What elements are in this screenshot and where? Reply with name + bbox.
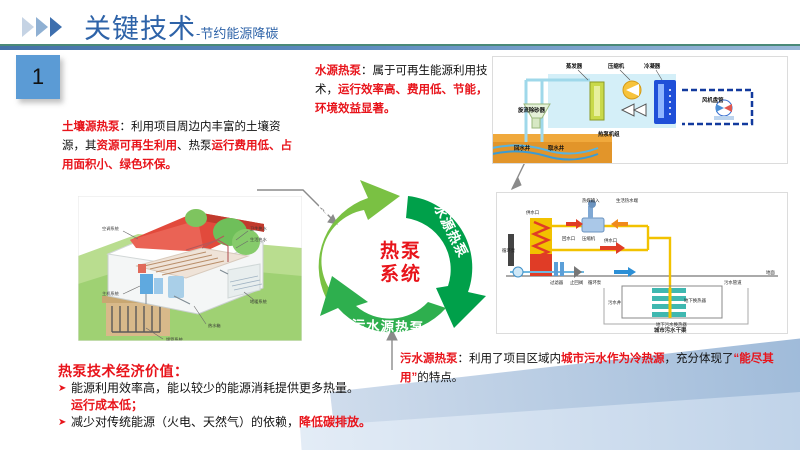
svg-text:供水口: 供水口	[604, 237, 617, 244]
ground-source-heat-pump-house-diagram: 空调系统 主机系统 地暖系统 热水箱 埋管系统 卫生热水 生活热水	[78, 196, 302, 341]
cycle-center-label: 热泵 系统	[351, 228, 451, 298]
svg-text:蒸发器: 蒸发器	[565, 62, 583, 70]
svg-text:生活热水: 生活热水	[250, 236, 268, 243]
svg-text:回水井: 回水井	[514, 144, 531, 152]
callout-sewage-source: 污水源热泵：利用了项目区域内城市污水作为冷热源，充分体现了“能尽其用”的特点。	[400, 350, 790, 388]
svg-text:回水口: 回水口	[562, 235, 575, 242]
svg-text:压缩机: 压缩机	[608, 62, 625, 70]
svg-text:止回阀: 止回阀	[570, 279, 583, 286]
callout-soil-term: 土壤源热泵	[62, 121, 120, 133]
svg-text:供水口: 供水口	[526, 209, 539, 216]
callout-water-term: 水源热泵	[315, 65, 361, 77]
svg-text:地面: 地面	[766, 269, 775, 276]
water-source-heat-pump-well-diagram: 蒸发器 压缩机 冷凝器 旋流除砂器 风机盘管 热泵机组 回水井 取水井	[492, 56, 788, 164]
callout-sewage-body: 利用了项目区域内	[469, 353, 561, 365]
callout-water-colon: ：	[361, 65, 373, 77]
economic-value-bullet-2: 减少对传统能源（火电、天然气）的依赖，降低碳排放。	[58, 414, 408, 431]
callout-soil-hl-a: 资源可再生利用	[97, 140, 178, 152]
heat-pump-cycle-diagram: 热泵 系统 土壤源热泵 水源热泵 污水源热泵	[296, 176, 506, 351]
callout-sewage-tail: 的特点。	[417, 372, 463, 384]
callout-sewage-term: 污水源热泵	[400, 353, 458, 365]
svg-text:地下换热器: 地下换热器	[684, 297, 707, 304]
page-title-main: 关键技术	[84, 14, 196, 44]
svg-text:城市污水干渠: 城市污水干渠	[654, 326, 687, 334]
page-number-badge: 1	[16, 55, 60, 99]
economic-value-bullet-1-text: 能源利用效率高，能以较少的能源消耗提供更多热量。	[71, 381, 359, 395]
svg-text:主机系统: 主机系统	[102, 290, 119, 297]
svg-text:空调系统: 空调系统	[102, 225, 119, 232]
header-rule-blue	[0, 46, 800, 50]
callout-soil-colon: ：	[120, 121, 132, 133]
callout-soil-source: 土壤源热泵：利用项目周边内丰富的土壤资源，其资源可再生利用、热泵运行费用低、占用…	[62, 118, 302, 175]
svg-text:污水井: 污水井	[608, 299, 622, 306]
svg-text:冷凝器: 冷凝器	[644, 62, 661, 70]
svg-text:热水箱: 热水箱	[208, 322, 221, 329]
svg-text:地暖系统: 地暖系统	[250, 298, 267, 305]
cycle-center-line2: 系统	[380, 263, 422, 286]
svg-text:污水管道: 污水管道	[724, 279, 742, 286]
page-title: 关键技术-节约能源降碳	[84, 7, 278, 46]
economic-value-bullet-2-text: 减少对传统能源（火电、天然气）的依赖，	[71, 415, 299, 429]
callout-sewage-hl-a: 城市污水作为冷热源	[561, 353, 665, 365]
slide-canvas: 关键技术-节约能源降碳 1	[0, 0, 800, 450]
svg-text:生活热水端: 生活热水端	[616, 197, 639, 204]
svg-text:风机盘管: 风机盘管	[702, 96, 724, 104]
svg-text:热泵机组: 热泵机组	[598, 130, 620, 138]
cycle-center-line1: 热泵	[380, 240, 422, 263]
economic-value-block: 热泵技术经济价值： 能源利用效率高，能以较少的能源消耗提供更多热量。 运行成本低…	[58, 363, 408, 431]
svg-text:压缩机: 压缩机	[582, 235, 596, 242]
sewage-source-heat-pump-diagram: 热媒输入 生活热水端 压缩机 供水口 循环泵 供水口 回水口 过滤器 止回阀 循…	[496, 192, 788, 334]
svg-text:地下污水换热器: 地下污水换热器	[656, 321, 687, 328]
callout-soil-mid: 、热泵	[177, 140, 212, 152]
double-chevron-right-icon	[22, 16, 78, 38]
svg-text:旋流除砂器: 旋流除砂器	[517, 106, 546, 114]
economic-value-subline: 运行成本低；	[58, 397, 408, 414]
economic-value-title: 热泵技术经济价值：	[58, 363, 408, 380]
callout-sewage-colon: ：	[458, 353, 470, 365]
svg-text:热媒输入: 热媒输入	[582, 197, 600, 204]
svg-text:循环泵: 循环泵	[588, 279, 602, 286]
callout-sewage-mid: ，充分体现了	[665, 353, 734, 365]
svg-text:埋管系统: 埋管系统	[166, 336, 183, 341]
economic-value-bullet-1: 能源利用效率高，能以较少的能源消耗提供更多热量。	[58, 380, 408, 397]
economic-value-bullet-2-hl: 降低碳排放。	[299, 415, 371, 429]
svg-text:过滤器: 过滤器	[550, 279, 564, 286]
svg-text:卫生热水: 卫生热水	[250, 225, 268, 232]
page-subtitle: -节约能源降碳	[196, 26, 278, 41]
callout-water-hl: 运行效率高、费用低、节能，环境效益显著。	[315, 84, 488, 115]
cycle-label-sewage: 污水源热泵	[351, 314, 424, 337]
callout-water-source: 水源热泵：属于可再生能源利用技术，运行效率高、费用低、节能，环境效益显著。	[315, 62, 495, 119]
svg-text:取水井: 取水井	[548, 144, 565, 152]
